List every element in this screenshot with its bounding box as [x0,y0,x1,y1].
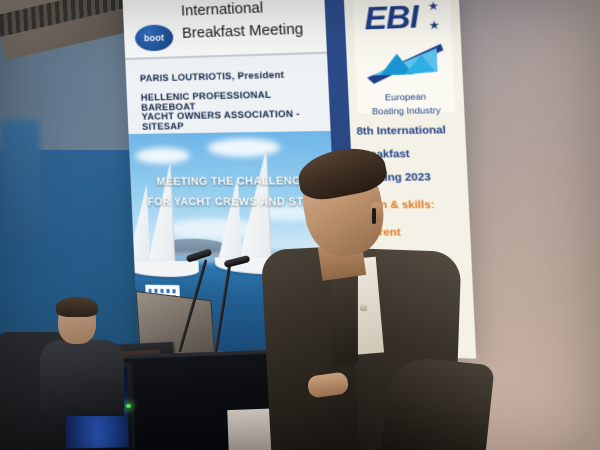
ebi-caption-line1: European [357,90,455,103]
ebi-title-line1: 8th International [356,125,446,138]
eu-star-icon: ★ [427,0,439,13]
boot-logo-text: boot [144,33,165,44]
presenter-org-line2: YACHT OWNERS ASSOCIATION - SITESAP [141,108,330,132]
ebi-boat-icon [363,39,447,86]
presenter-lapel-pin [360,302,367,311]
ebi-logo-block: EBI ★ ★ European Boating Industry [352,0,455,114]
presenter-standing [268,152,498,450]
presenter-arm [381,355,494,450]
seated-technician-body [40,340,124,416]
eu-star-icon: ★ [428,18,440,32]
presenter-earpiece [372,208,376,224]
power-led-indicator [126,404,131,408]
presenter-lapel [332,266,358,365]
seated-technician [44,300,112,410]
screenshot-root: boot International Breakfast Meeting PAR… [0,0,600,450]
ebi-caption-line2: Boating Industry [358,104,456,116]
presenter-name: PARIS LOUTRIOTIS, President [140,70,285,84]
blue-wall-edge [0,120,40,240]
slide-title-line1: International [181,0,264,20]
ebi-logo-text: EBI [363,0,418,38]
seated-technician-hair [56,297,98,317]
